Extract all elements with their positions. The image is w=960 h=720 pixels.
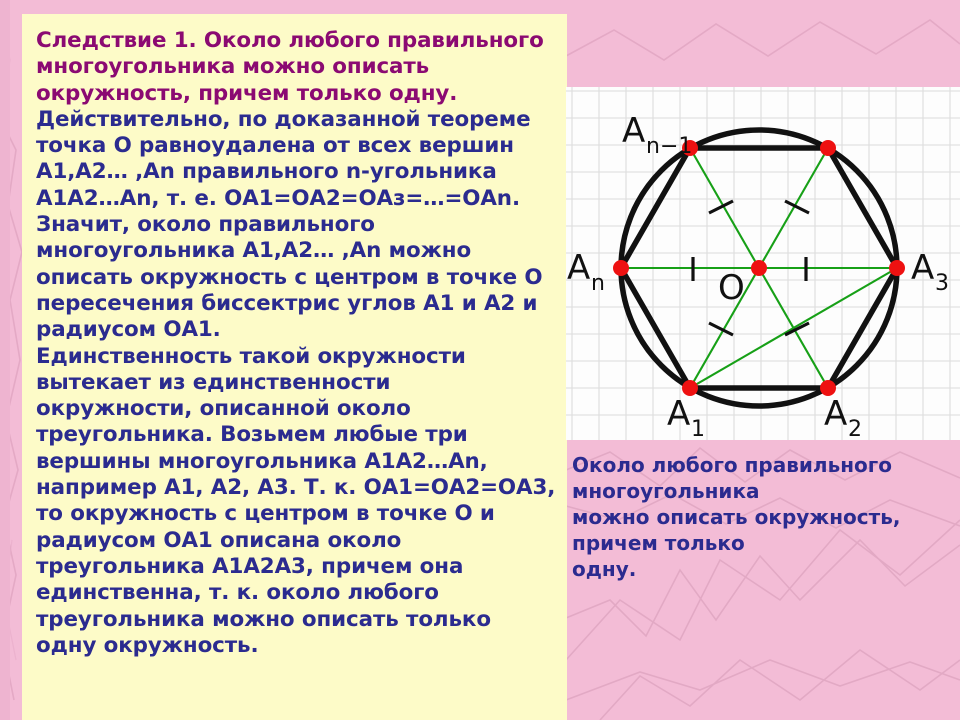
body-line: треугольника можно описать только (36, 607, 557, 633)
left-edge-strip (0, 0, 10, 720)
body-line: точка О равноудалена от всех вершин (36, 133, 557, 159)
label-a1-sub: 1 (691, 417, 705, 440)
vertex-dot (889, 260, 905, 276)
body-line: Следствие 1. Около любого правильного (36, 28, 557, 54)
caption-line: Около любого правильного (572, 452, 960, 478)
body-line: окружность, причем только одну. (36, 81, 557, 107)
caption-line: многоугольника (572, 478, 960, 504)
geometry-figure: A n−1 A 3 A 2 A 1 A n O (566, 87, 960, 440)
label-center-o: O (718, 268, 745, 308)
center-dot (751, 260, 767, 276)
label-a2-base: A (824, 394, 847, 434)
label-a-n-minus-1-base: A (622, 111, 645, 151)
caption-line: причем только (572, 530, 960, 556)
body-line: вершины многоугольника А1А2…Аn, (36, 449, 557, 475)
caption-panel: Около любого правильного многоугольника … (572, 452, 960, 612)
body-text-panel: Следствие 1. Около любого правильного мн… (22, 14, 567, 720)
label-a3-base: A (911, 248, 934, 288)
body-line: многоугольника А1,А2… ,Аn можно (36, 238, 557, 264)
label-a-n-minus-1-sub: n−1 (646, 134, 692, 159)
body-line: Действительно, по доказанной теореме (36, 107, 557, 133)
caption-line: можно описать окружность, (572, 504, 960, 530)
body-line: Единственность такой окружности (36, 344, 557, 370)
body-line: то окружность с центром в точке О и (36, 501, 557, 527)
body-line: треугольника А1А2А3, причем она (36, 554, 557, 580)
label-a3-sub: 3 (935, 271, 949, 296)
label-an-sub: n (591, 271, 605, 296)
body-line: А1,А2… ,Аn правильного n-угольника (36, 159, 557, 185)
inscribed-circle-diagram: A n−1 A 3 A 2 A 1 A n O (566, 87, 960, 440)
label-an-base: A (567, 248, 590, 288)
body-line: описать окружность с центром в точке О (36, 265, 557, 291)
body-line: единственна, т. к. около любого (36, 580, 557, 606)
body-line: окружности, описанной около (36, 396, 557, 422)
body-line: радиусом ОА1. (36, 317, 557, 343)
body-line: радиусом ОА1 описана около (36, 528, 557, 554)
label-a2-sub: 2 (848, 417, 862, 440)
body-line: А1А2…Аn, т. е. ОА1=ОА2=ОАз=…=ОАn. (36, 186, 557, 212)
body-line: например А1, А2, А3. Т. к. ОА1=ОА2=ОА3, (36, 475, 557, 501)
body-line: многоугольника можно описать (36, 54, 557, 80)
body-line: Значит, около правильного (36, 212, 557, 238)
body-line: одну окружность. (36, 633, 557, 659)
body-line: пересечения биссектрис углов А1 и А2 и (36, 291, 557, 317)
vertex-dot (613, 260, 629, 276)
body-line: треугольника. Возьмем любые три (36, 422, 557, 448)
vertex-dot (820, 140, 836, 156)
body-line: вытекает из единственности (36, 370, 557, 396)
slide: Следствие 1. Около любого правильного мн… (0, 0, 960, 720)
label-a1-base: A (667, 394, 690, 434)
caption-line: одну. (572, 556, 960, 582)
